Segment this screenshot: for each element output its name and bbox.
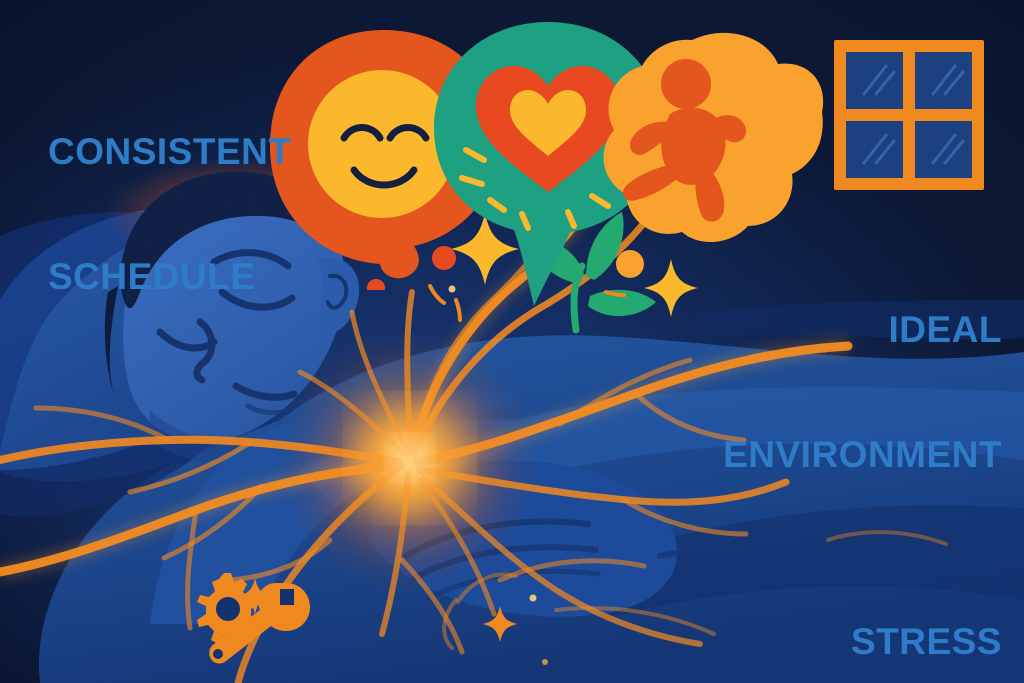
window-icon[interactable] xyxy=(830,36,990,196)
tools-icon-group xyxy=(190,565,320,675)
label-line-1: CONSISTENT xyxy=(48,131,291,173)
label-line-2: SCHEDULE xyxy=(48,256,291,298)
label-line-1: STRESS xyxy=(728,621,1002,663)
label-line-1: IDEAL xyxy=(723,309,1002,351)
label-ideal-environment: IDEAL ENVIRONMENT xyxy=(723,225,1002,559)
label-consistent-schedule: CONSISTENT SCHEDULE xyxy=(48,47,291,381)
illustration-canvas: CONSISTENT SCHEDULE IDEAL ENVIRONMENT ST… xyxy=(0,0,1024,683)
label-line-2: ENVIRONMENT xyxy=(723,434,1002,476)
label-stress-management: STRESS MANAGEMENT xyxy=(728,537,1002,683)
running-figure-bubble[interactable] xyxy=(600,28,830,258)
